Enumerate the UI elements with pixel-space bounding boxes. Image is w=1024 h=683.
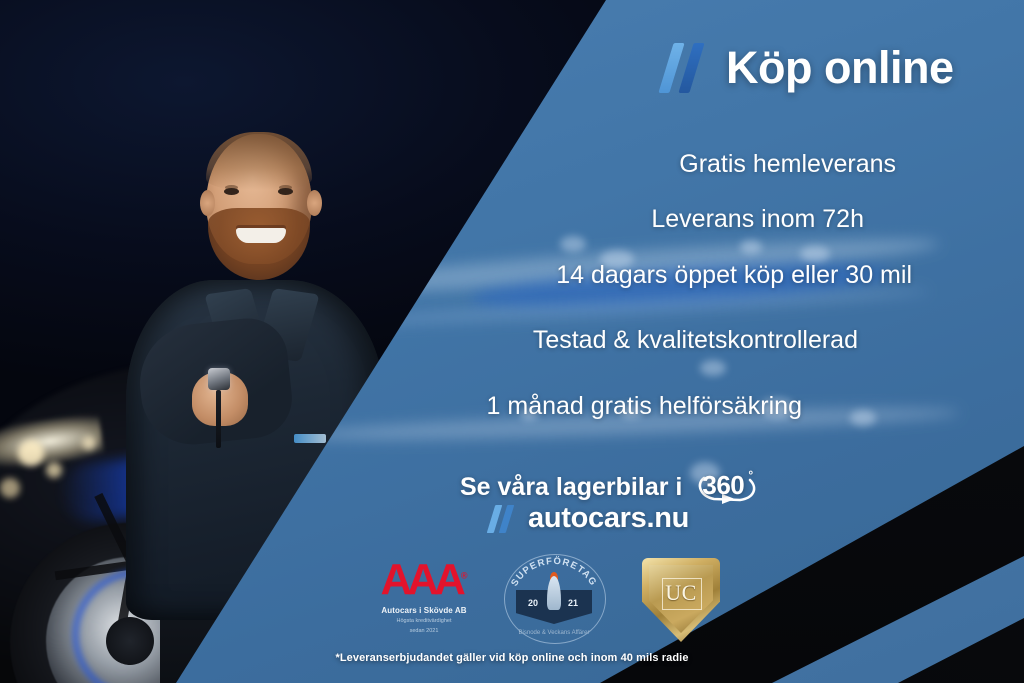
aaa-rating-line-1: Högsta kreditvärdighet xyxy=(360,617,488,625)
benefit-item-2: Leverans inom 72h xyxy=(651,205,864,234)
superforetag-year-right: 21 xyxy=(568,598,578,608)
double-slash-icon xyxy=(490,505,520,533)
headline-row: Köp online xyxy=(664,42,953,94)
benefit-item-1: Gratis hemleverans xyxy=(679,150,896,179)
superforetag-logo: SUPERFÖRETAG 20 21 Bisnode & Veckans Aff… xyxy=(502,552,606,644)
advertisement-banner: Köp online Gratis hemleverans Leverans i… xyxy=(0,0,1024,683)
certification-logos: AAA® Autocars i Skövde AB Högsta kreditv… xyxy=(352,552,752,648)
benefit-item-3: 14 dagars öppet köp eller 30 mil xyxy=(556,261,912,290)
badge-degree-symbol: ° xyxy=(748,468,753,482)
aaa-credit-rating-logo: AAA® Autocars i Skövde AB Högsta kreditv… xyxy=(360,558,488,636)
rotate-360-arrow-icon: 360 ° xyxy=(694,466,760,508)
double-slash-icon xyxy=(664,43,712,93)
uc-gold-shield-logo: UC xyxy=(642,558,720,642)
superforetag-publisher: Bisnode & Veckans Affärer xyxy=(502,630,606,636)
footnote-disclaimer: *Leveranserbjudandet gäller vid köp onli… xyxy=(0,652,1024,664)
aaa-letters: AAA xyxy=(381,555,461,604)
benefit-item-4: Testad & kvalitetskontrollerad xyxy=(533,326,858,355)
ad-content: Köp online Gratis hemleverans Leverans i… xyxy=(0,0,1024,683)
registered-trademark-icon: ® xyxy=(461,570,468,580)
aaa-company-name: Autocars i Skövde AB xyxy=(360,606,488,615)
cta-label: Se våra lagerbilar i xyxy=(460,473,682,502)
aaa-rating-line-2: sedan 2021 xyxy=(360,627,488,635)
badge-number: 360 xyxy=(702,470,744,501)
website-link[interactable]: autocars.nu xyxy=(490,502,689,535)
benefit-item-5: 1 månad gratis helförsäkring xyxy=(487,392,802,421)
page-title: Köp online xyxy=(726,42,953,94)
website-url: autocars.nu xyxy=(528,502,689,535)
superforetag-year-left: 20 xyxy=(528,598,538,608)
aaa-mark: AAA® xyxy=(360,558,488,602)
uc-letters: UC xyxy=(642,580,720,606)
